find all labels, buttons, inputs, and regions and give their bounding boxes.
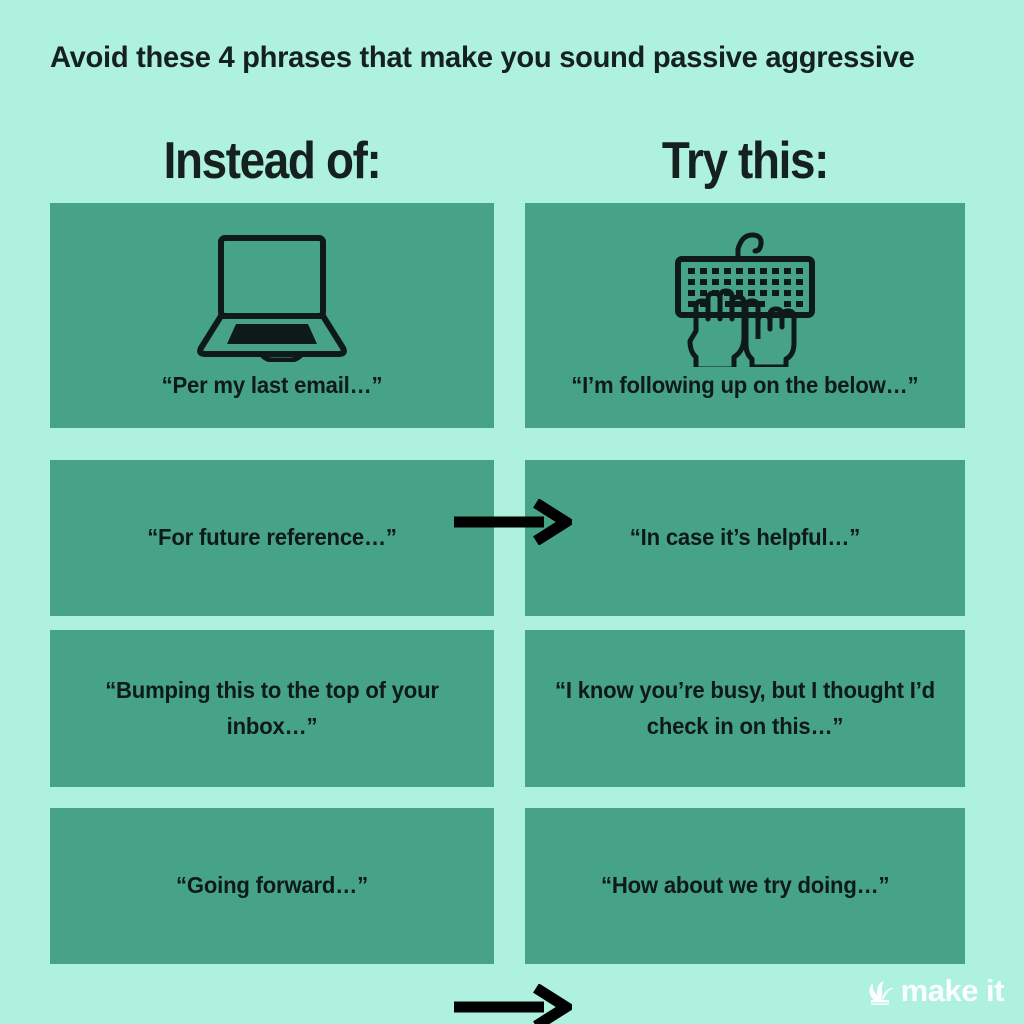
logo-text: make it	[901, 975, 1004, 1006]
make-it-logo: make it	[865, 975, 1004, 1006]
keyboard-hands-typing-icon	[670, 227, 820, 367]
page-title: Avoid these 4 phrases that make you soun…	[50, 41, 952, 75]
comparison-row: “For future reference…” “In case it’s he…	[0, 460, 1024, 616]
instead-of-phrase: “Going forward…”	[161, 868, 384, 904]
comparison-row: “Going forward…” “How about we try doing…	[0, 808, 1024, 964]
try-this-phrase: “I know you’re busy, but I thought I’d c…	[534, 673, 956, 744]
instead-of-panel-1: “Per my last email…”	[50, 203, 494, 428]
right-arrow-icon	[452, 984, 572, 1024]
instead-of-phrase: “For future reference…”	[132, 520, 412, 556]
try-this-panel-4: “How about we try doing…”	[525, 808, 965, 964]
try-this-phrase: “How about we try doing…”	[585, 868, 904, 904]
instead-of-panel-4: “Going forward…”	[50, 808, 494, 964]
laptop-icon	[191, 232, 353, 362]
instead-of-phrase: “Per my last email…”	[146, 368, 397, 404]
try-this-panel-2: “In case it’s helpful…”	[525, 460, 965, 616]
try-this-panel-3: “I know you’re busy, but I thought I’d c…	[525, 630, 965, 787]
try-this-phrase: “I’m following up on the below…”	[556, 368, 934, 404]
infographic-canvas: Avoid these 4 phrases that make you soun…	[0, 0, 1024, 1024]
instead-of-panel-2: “For future reference…”	[50, 460, 494, 616]
nbc-peacock-icon	[865, 976, 895, 1006]
comparison-row: “Bumping this to the top of your inbox…”…	[0, 630, 1024, 787]
laptop-icon-wrap	[50, 225, 494, 368]
instead-of-panel-3: “Bumping this to the top of your inbox…”	[50, 630, 494, 787]
try-this-phrase: “In case it’s helpful…”	[614, 520, 875, 556]
instead-of-phrase: “Bumping this to the top of your inbox…”	[59, 673, 485, 744]
keyboard-hands-typing-icon-wrap	[525, 225, 965, 368]
comparison-row: “Per my last email…”	[0, 203, 1024, 428]
try-this-panel-1: “I’m following up on the below…”	[525, 203, 965, 428]
column-header-instead-of: Instead of:	[77, 134, 468, 189]
column-header-try-this: Try this:	[551, 134, 938, 189]
